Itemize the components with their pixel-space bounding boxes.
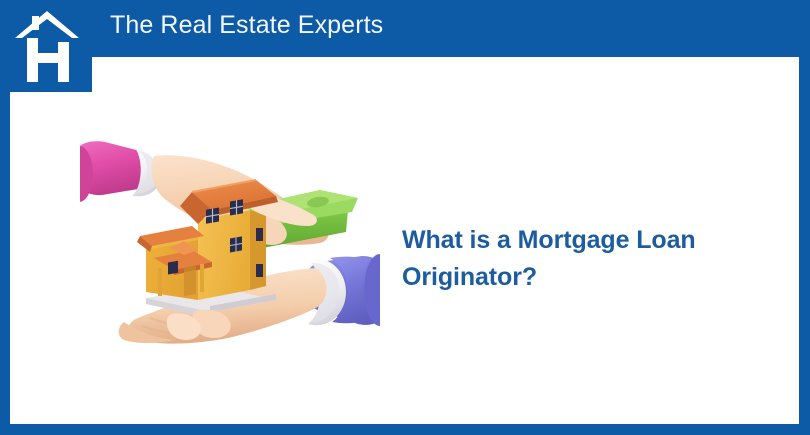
house-with-h-logo-icon [14, 8, 80, 86]
frame-border-bottom [0, 424, 810, 435]
hands-exchanging-house-for-cash-illustration [80, 128, 380, 376]
header-bar: The Real Estate Experts [0, 0, 810, 57]
site-title: The Real Estate Experts [110, 11, 383, 40]
house-model [137, 180, 278, 318]
page-title: What is a Mortgage Loan Originator? [402, 222, 762, 296]
logo-tab [0, 0, 92, 92]
frame-border-left [0, 0, 10, 435]
article-thumbnail-card: The Real Estate Experts [0, 0, 810, 435]
frame-border-right [799, 0, 810, 435]
